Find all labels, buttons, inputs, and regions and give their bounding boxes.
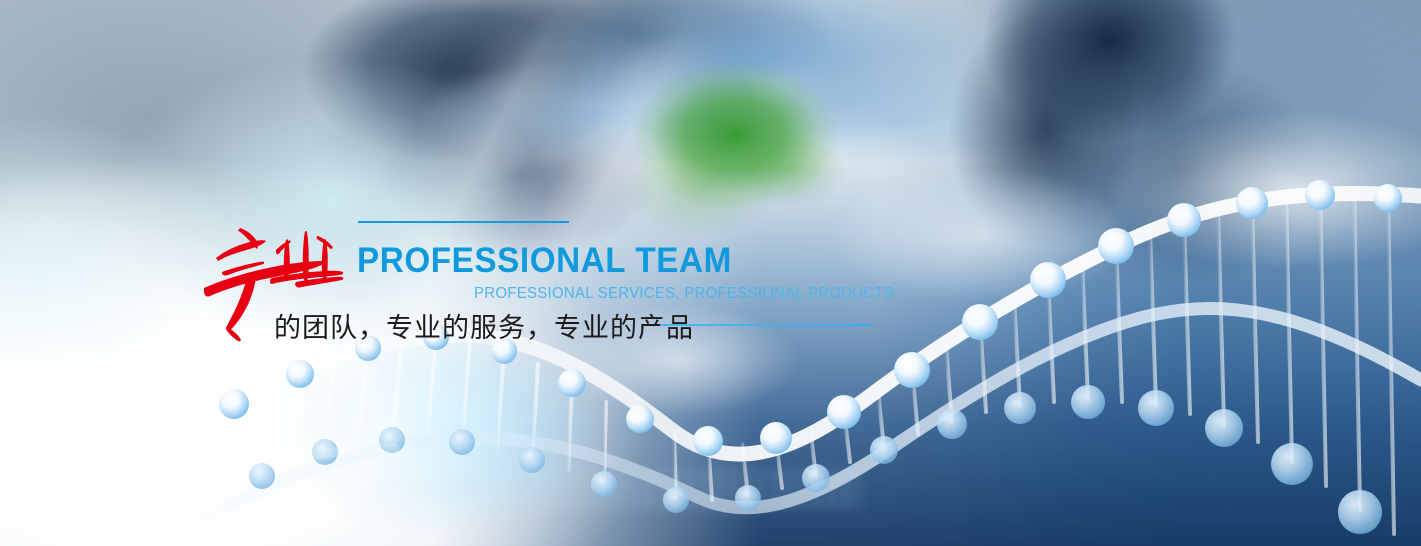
hero-banner: PROFESSIONAL TEAM PROFESSIONAL SERVICES,… xyxy=(0,0,1421,546)
decorative-rule-bottom xyxy=(660,324,872,326)
decorative-rule-top xyxy=(358,221,569,223)
page-subtitle: PROFESSIONAL SERVICES, PROFESSIONAL PROD… xyxy=(474,285,894,303)
chinese-tagline: 的团队，专业的服务，专业的产品 xyxy=(274,306,694,345)
page-title: PROFESSIONAL TEAM xyxy=(357,241,732,281)
banner-text-block: PROFESSIONAL TEAM PROFESSIONAL SERVICES,… xyxy=(0,0,1421,546)
